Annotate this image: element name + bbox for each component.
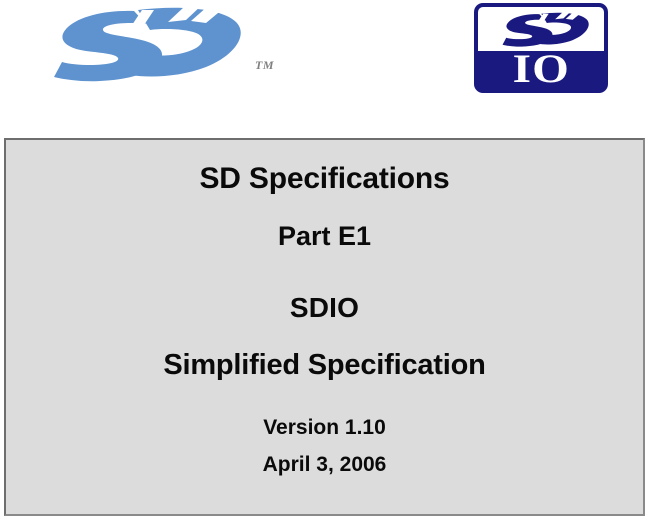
- cover-panel: SD Specifications Part E1 SDIO Simplifie…: [4, 138, 645, 516]
- page-title: SD Specifications: [6, 162, 643, 196]
- spec-type-label: Simplified Specification: [6, 349, 643, 382]
- sdio-logo-lower-panel: IO: [478, 51, 604, 89]
- date-label: April 3, 2006: [6, 453, 643, 477]
- sd-logo: TM: [46, 4, 246, 82]
- cover-text-block: SD Specifications Part E1 SDIO Simplifie…: [6, 140, 643, 514]
- sdio-io-wordmark: IO: [512, 50, 569, 88]
- page-footer-margin: [0, 516, 650, 529]
- sdio-sd-mark-graphic: [491, 11, 599, 47]
- version-label: Version 1.10: [6, 416, 643, 440]
- sd-logo-graphic: [46, 4, 246, 82]
- spec-name-label: SDIO: [6, 292, 643, 324]
- sdio-logo: IO: [474, 3, 608, 93]
- logo-header-band: TM IO: [0, 0, 650, 138]
- part-label: Part E1: [6, 221, 643, 252]
- sd-trademark-label: TM: [255, 58, 274, 73]
- sdio-logo-upper-panel: [478, 7, 604, 51]
